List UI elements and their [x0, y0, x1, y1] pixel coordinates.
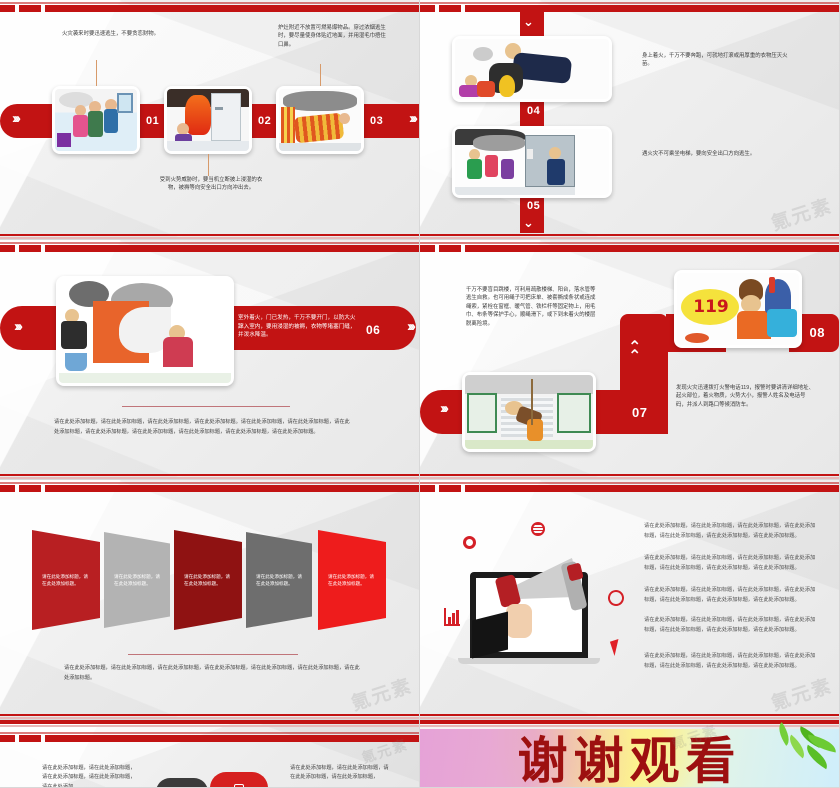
paragraph-5: 请在此处添加标题，请在此处添加标题，请在此处添加标题，请在此处添加标题，请在此处…: [644, 652, 816, 671]
illustration-call-119: 119: [677, 273, 799, 345]
atom-icon: [606, 588, 627, 609]
step-number-03: 03: [370, 115, 383, 127]
paragraph-3: 请在此处添加标题，请在此处添加标题，请在此处添加标题，请在此处添加标题，请在此处…: [644, 586, 816, 605]
ppt-preview-page: ››› ››› 01 02 03 火灾袭来时要迅速逃生，不要贪恋财物。: [0, 0, 840, 788]
grey-pill-badge: [156, 778, 208, 788]
funnel-step-1-label: 请在此处添加标题，请在此处添加标题。: [32, 573, 100, 587]
step-number-04: 04: [527, 105, 540, 117]
funnel-step-5-label: 请在此处添加标题，请在此处添加标题。: [318, 573, 386, 587]
illustration-no-elevator: [455, 129, 609, 195]
slide-footer-bar: [420, 713, 839, 719]
step-number-08: 08: [810, 325, 825, 340]
slide-thumbnail-04[interactable]: 08 07 ⌃⌃ ››› 千万不要盲目跳楼，可利用疏散楼梯、阳台，落水管等逃生自…: [420, 240, 840, 480]
thank-you-title: 谢谢观看: [518, 721, 742, 788]
slide-footer-bar: [420, 233, 839, 239]
slide-thumbnail-08[interactable]: 谢谢观看 氪元素: [420, 720, 840, 788]
slide-footer-bar: [0, 713, 419, 719]
hand-icon: [506, 604, 532, 638]
leader-line-3: [320, 64, 321, 86]
megaphone-accent: [566, 563, 583, 582]
slide-header-bar: [0, 480, 419, 492]
slide-header-bar: [420, 480, 839, 492]
bar-chart-icon: [444, 608, 460, 626]
right-column-text: 请在此处添加标题，请在此处添加标题，请在此处添加标题，请在此处添加标题，: [290, 764, 390, 783]
funnel-step-1[interactable]: 请在此处添加标题，请在此处添加标题。: [32, 530, 100, 630]
slide-thumbnail-06[interactable]: 请在此处添加标题，请在此处添加标题，请在此处添加标题，请在此处添加标题，请在此处…: [420, 480, 840, 720]
divider-rule: [128, 654, 298, 655]
funnel-step-3[interactable]: 请在此处添加标题，请在此处添加标题。: [174, 530, 242, 630]
chevron-down-icon-bottom: ⌄: [523, 215, 534, 231]
funnel-step-3-label: 请在此处添加标题，请在此处添加标题。: [174, 573, 242, 587]
thank-you-slide-background: 谢谢观看: [420, 729, 839, 787]
illustration-fire-doorway: [167, 89, 249, 151]
illustration-family-escaping: [55, 89, 137, 151]
chevron-right-icon: ›››: [440, 400, 446, 417]
illustration-cooling-door: [59, 279, 231, 383]
scene-card-07[interactable]: [462, 372, 596, 452]
slide-thumbnail-03[interactable]: ››› ››› 06 室外着火，门已发热，千万不要开门，以防大火蹿入室内，要用浸…: [0, 240, 420, 480]
scene-card-02[interactable]: [164, 86, 252, 154]
caption-07: 千万不要盲目跳楼，可利用疏散楼梯、阳台，落水管等逃生自救。也可用绳子可把床单、被…: [466, 286, 596, 328]
leader-line-2: [208, 154, 209, 176]
slide-thumbnail-07[interactable]: 请在此处添加标题，请在此处添加标题，请在此处添加标题，请在此处添加标题，请在此处…: [0, 720, 420, 788]
funnel-step-4-label: 请在此处添加标题，请在此处添加标题。: [246, 573, 312, 587]
caption-03: 炉灶附近不放置可燃易爆物品。穿过浓烟逃生时，要尽量使身体贴近地面，并用湿毛巾捂住…: [278, 24, 388, 49]
slide-thumbnail-01[interactable]: ››› ››› 01 02 03 火灾袭来时要迅速逃生，不要贪恋财物。: [0, 0, 420, 240]
slide-thumbnail-02[interactable]: ⌄ ⌄ 04 身上着火，千万不要奔跑，可就地打滚或用厚重的衣物压灭火苗。: [420, 0, 840, 240]
illustration-rope-descent: [465, 375, 593, 449]
divider-rule: [122, 406, 290, 407]
chevron-right-icon-end: ›››: [407, 318, 413, 335]
footer-paragraph: 请在此处添加标题，请在此处添加标题，请在此处添加标题，请在此处添加标题。请在此处…: [54, 418, 354, 438]
paragraph-1: 请在此处添加标题，请在此处添加标题，请在此处添加标题，请在此处添加标题，请在此处…: [644, 522, 816, 541]
paragraph-2: 请在此处添加标题，请在此处添加标题，请在此处添加标题，请在此处添加标题，请在此处…: [644, 554, 816, 573]
caption-02: 受到火势威胁时，要当机立断披上浸湿的衣物，被褥等向安全出口方向冲出去。: [156, 176, 266, 193]
funnel-step-2[interactable]: 请在此处添加标题，请在此处添加标题。: [104, 532, 170, 628]
footer-paragraph: 请在此处添加标题，请在此处添加标题，请在此处添加标题，请在此处添加标题，请在此处…: [64, 664, 362, 684]
clipboard-icon: [234, 784, 244, 788]
scene-card-06[interactable]: [56, 276, 234, 386]
leader-line-1: [96, 60, 97, 86]
chevron-up-icon: ⌃⌃: [628, 344, 641, 362]
scene-card-04[interactable]: [452, 36, 612, 102]
funnel-step-4[interactable]: 请在此处添加标题，请在此处添加标题。: [246, 532, 312, 628]
scene-card-03[interactable]: [276, 86, 364, 154]
slide-header-bar: [420, 0, 839, 12]
gear-icon: [463, 536, 476, 549]
scene-card-08[interactable]: 119: [674, 270, 802, 348]
step-number-06: 06: [366, 323, 380, 337]
slide-footer-bar: [420, 473, 839, 479]
red-pill-badge[interactable]: [210, 772, 268, 788]
globe-icon: [531, 522, 545, 536]
slide-footer-bar: [0, 473, 419, 479]
step-number-07: 07: [632, 405, 647, 420]
caption-04: 身上着火，千万不要奔跑，可就地打滚或用厚重的衣物压灭火苗。: [642, 52, 794, 69]
slide-header-bar: [0, 240, 419, 252]
watermark: 氪元素: [767, 671, 835, 716]
caption-05: 遇火灾不可乘坐电梯，要向安全出口方向逃生。: [642, 150, 794, 158]
callout-119: 119: [687, 295, 735, 319]
watermark: 氪元素: [767, 191, 835, 236]
funnel-step-2-label: 请在此处添加标题，请在此处添加标题。: [104, 573, 170, 587]
step-number-05: 05: [527, 200, 540, 212]
chevron-right-icon: ›››: [12, 110, 18, 127]
slide-header-bar: [0, 0, 419, 12]
caption-01: 火灾袭来时要迅速逃生，不要贪恋财物。: [62, 30, 166, 38]
step-number-01: 01: [146, 115, 159, 127]
slide-thumbnail-05[interactable]: 请在此处添加标题，请在此处添加标题。 请在此处添加标题，请在此处添加标题。 请在…: [0, 480, 420, 720]
chevron-down-icon-top: ⌄: [523, 14, 534, 30]
caption-06: 室外着火，门已发热，千万不要开门，以防大火蹿入室内，要用浸湿的被褥，衣物等堵塞门…: [238, 314, 360, 340]
chevron-right-icon: ›››: [14, 318, 20, 335]
caption-08: 发现火灾迅速拨打火警电话119，报警时要讲清详细地址、起火部位，着火物质，火势大…: [676, 384, 816, 409]
paragraph-4: 请在此处添加标题，请在此处添加标题，请在此处添加标题，请在此处添加标题，请在此处…: [644, 616, 816, 635]
scene-card-05[interactable]: [452, 126, 612, 198]
slide-header-bar: [420, 240, 839, 252]
chevron-right-icon-end: ›››: [409, 110, 415, 127]
prev-slide-footer-light: [0, 725, 419, 727]
scene-card-01[interactable]: [52, 86, 140, 154]
step-number-02: 02: [258, 115, 271, 127]
slide-header-bar: [0, 730, 419, 742]
cursor-icon: [610, 639, 623, 656]
illustration-stop-drop-roll: [455, 39, 609, 99]
left-column-text: 请在此处添加标题，请在此处添加标题，请在此处添加标题，请在此处添加标题，请在此处…: [42, 764, 136, 788]
funnel-step-5[interactable]: 请在此处添加标题，请在此处添加标题。: [318, 530, 386, 630]
prev-slide-footer: [0, 720, 419, 724]
laptop-base: [458, 658, 600, 664]
illustration-crawl-under-smoke: [279, 89, 361, 151]
slide-footer-bar: [0, 233, 419, 239]
